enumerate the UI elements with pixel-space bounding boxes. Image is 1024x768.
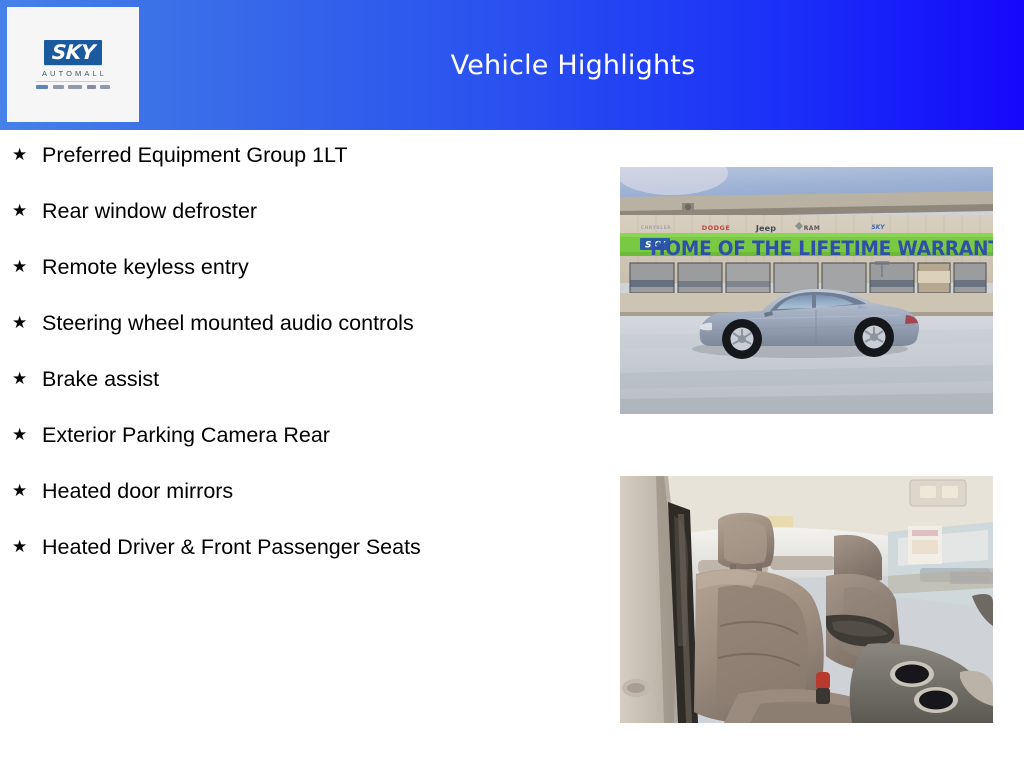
page-title: Vehicle Highlights: [150, 0, 1024, 130]
star-bullet-icon: ★: [12, 198, 42, 224]
list-item-label: Remote keyless entry: [42, 254, 249, 280]
dealer-logo-card: SKY AUTOMALL: [7, 7, 139, 122]
interior-photo-artwork: [620, 476, 993, 723]
star-bullet-icon: ★: [12, 254, 42, 280]
star-bullet-icon: ★: [12, 366, 42, 392]
list-item: ★ Heated Driver & Front Passenger Seats: [0, 534, 600, 560]
brand-chip-jeep-icon: [68, 85, 82, 89]
sky-badge: SKY: [44, 40, 103, 65]
list-item: ★ Preferred Equipment Group 1LT: [0, 142, 600, 168]
sky-logo-text: SKY: [51, 42, 95, 62]
exterior-photo-artwork: CHRYSLER DODGE Jeep RAM SKY SKY HOME OF …: [620, 167, 993, 414]
svg-text:RAM: RAM: [804, 225, 820, 232]
list-item: ★ Exterior Parking Camera Rear: [0, 422, 600, 448]
list-item: ★ Remote keyless entry: [0, 254, 600, 280]
brand-logo-strip: [36, 81, 110, 90]
svg-text:SKY: SKY: [871, 224, 885, 231]
list-item-label: Preferred Equipment Group 1LT: [42, 142, 348, 168]
list-item-label: Heated Driver & Front Passenger Seats: [42, 534, 421, 560]
star-bullet-icon: ★: [12, 478, 42, 504]
list-item: ★ Heated door mirrors: [0, 478, 600, 504]
svg-text:DODGE: DODGE: [702, 224, 731, 232]
list-item: ★ Brake assist: [0, 366, 600, 392]
vehicle-interior-photo: [620, 476, 993, 723]
brand-chip-dodge-icon: [53, 85, 64, 89]
automall-subtitle: AUTOMALL: [39, 69, 107, 78]
list-item-label: Rear window defroster: [42, 198, 257, 224]
list-item-label: Exterior Parking Camera Rear: [42, 422, 330, 448]
star-bullet-icon: ★: [12, 422, 42, 448]
list-item: ★ Rear window defroster: [0, 198, 600, 224]
star-bullet-icon: ★: [12, 534, 42, 560]
list-item-label: Heated door mirrors: [42, 478, 233, 504]
brand-chip-chevrolet-icon: [36, 85, 48, 89]
list-item: ★ Steering wheel mounted audio controls: [0, 310, 600, 336]
sky-automall-logo: SKY AUTOMALL: [36, 40, 110, 90]
vehicle-highlights-list: ★ Preferred Equipment Group 1LT ★ Rear w…: [0, 142, 600, 590]
star-bullet-icon: ★: [12, 142, 42, 168]
svg-text:Jeep: Jeep: [755, 224, 776, 233]
svg-text:HOME OF THE LIFETIME WARRANTY: HOME OF THE LIFETIME WARRANTY: [650, 238, 993, 261]
svg-text:CHRYSLER: CHRYSLER: [641, 225, 671, 231]
list-item-label: Brake assist: [42, 366, 159, 392]
brand-chip-chrysler-icon: [100, 85, 110, 89]
page-header: SKY AUTOMALL Vehicle Highlights: [0, 0, 1024, 130]
vehicle-exterior-photo: CHRYSLER DODGE Jeep RAM SKY SKY HOME OF …: [620, 167, 993, 414]
star-bullet-icon: ★: [12, 310, 42, 336]
brand-chip-ram-icon: [87, 85, 96, 89]
list-item-label: Steering wheel mounted audio controls: [42, 310, 414, 336]
